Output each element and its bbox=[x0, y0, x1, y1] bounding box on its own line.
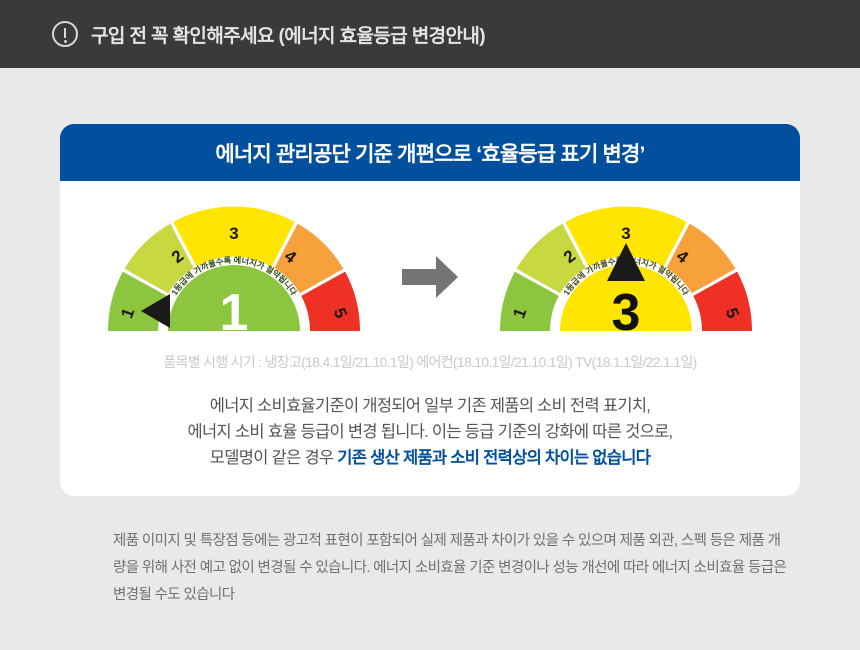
after-gauge: 1 2 3 4 5 1등급에 가까울수록 에너지가 절약됩니다 3 bbox=[500, 199, 752, 339]
disclaimer-text: 제품 이미지 및 특장점 등에는 광고적 표현이 포함되어 실제 제품과 차이가… bbox=[113, 528, 793, 609]
notice-topbar: 구입 전 꼭 확인해주세요 (에너지 효율등급 변경안내) bbox=[0, 0, 860, 68]
gauge-segment-label-3: 3 bbox=[229, 224, 238, 243]
notice-body-line-3: 모델명이 같은 경우 기존 생산 제품과 소비 전력상의 차이는 없습니다 bbox=[60, 445, 800, 471]
card-header-title: 에너지 관리공단 기준 개편으로 ‘효율등급 표기 변경’ bbox=[215, 138, 644, 168]
notice-body-line-1: 에너지 소비효율기준이 개정되어 일부 기존 제품의 소비 전력 표기치, bbox=[60, 393, 800, 419]
exclamation-circle-icon bbox=[52, 21, 78, 47]
gauge-comparison: 1 2 3 4 5 1등급에 가까울수록 에너지가 절약됩니다 1 bbox=[60, 181, 800, 356]
notice-body-highlight: 기존 생산 제품과 소비 전력상의 차이는 없습니다 bbox=[337, 449, 650, 467]
notice-body: 에너지 소비효율기준이 개정되어 일부 기존 제품의 소비 전력 표기치, 에너… bbox=[60, 393, 800, 471]
notice-body-line-2: 에너지 소비 효율 등급이 변경 됩니다. 이는 등급 기준의 강화에 따른 것… bbox=[60, 419, 800, 445]
notice-body-line-3-plain: 모델명이 같은 경우 bbox=[210, 449, 338, 467]
energy-grade-card: 에너지 관리공단 기준 개편으로 ‘효율등급 표기 변경’ 1 2 bbox=[60, 124, 800, 496]
arrow-right-icon bbox=[400, 253, 460, 301]
card-header: 에너지 관리공단 기준 개편으로 ‘효율등급 표기 변경’ bbox=[60, 124, 800, 181]
gauge-segment-label-3: 3 bbox=[621, 224, 630, 243]
before-gauge-svg: 1 2 3 4 5 1등급에 가까울수록 에너지가 절약됩니다 1 bbox=[108, 199, 360, 339]
gauge-grade-value: 1 bbox=[220, 284, 249, 339]
before-gauge: 1 2 3 4 5 1등급에 가까울수록 에너지가 절약됩니다 1 bbox=[108, 199, 360, 339]
page-title: 구입 전 꼭 확인해주세요 (에너지 효율등급 변경안내) bbox=[91, 21, 485, 48]
after-gauge-svg: 1 2 3 4 5 1등급에 가까울수록 에너지가 절약됩니다 3 bbox=[500, 199, 752, 339]
gauge-grade-value: 3 bbox=[612, 284, 641, 339]
